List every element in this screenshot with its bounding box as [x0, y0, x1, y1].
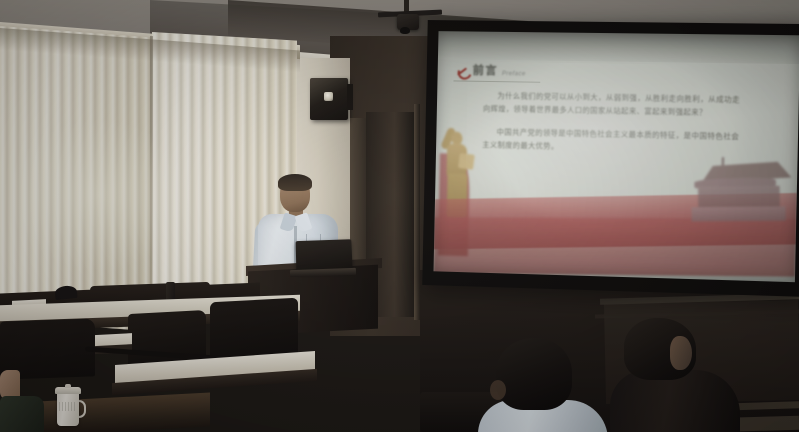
monument-graphic	[691, 161, 787, 225]
screen-top-shade	[438, 31, 799, 64]
speaker-bracket	[347, 84, 353, 110]
audience-face	[670, 336, 692, 370]
audience-head	[496, 338, 572, 410]
desk-object	[54, 285, 77, 300]
audience-ear	[490, 380, 506, 400]
audience-member-front-left	[478, 338, 598, 432]
slide-title-underline	[453, 80, 540, 82]
projector-lens-icon	[400, 27, 410, 34]
projection-screen-surface: 前言 Preface 为什么我们的党可以从小到大，从弱到强，从胜利走向胜利，从成…	[434, 31, 799, 282]
slide-paragraph: 为什么我们的党可以从小到大，从弱到强，从胜利走向胜利，从成功走向辉煌，领导着世界…	[483, 90, 740, 120]
party-emblem-icon	[456, 64, 469, 77]
slide-title-row: 前言 Preface	[456, 64, 526, 78]
slide-body: 为什么我们的党可以从小到大，从弱到强，从胜利走向胜利，从成功走向辉煌，领导着世界…	[482, 90, 740, 168]
slide-title-english: Preface	[502, 71, 526, 78]
curtain-daylight-glow	[8, 120, 188, 270]
foreground-object	[0, 396, 44, 432]
speaker-cone-icon	[324, 92, 333, 101]
slide-paragraph: 中国共产党的领导是中国特色社会主义最本质的特征，是中国特色社会主义制度的最大优势…	[482, 126, 739, 157]
presenter-hair	[278, 174, 312, 191]
audience-member-front-right	[610, 318, 735, 432]
conference-room-photo: 前言 Preface 为什么我们的党可以从小到大，从弱到强，从胜利走向胜利，从成…	[0, 0, 799, 432]
slide-title: 前言	[473, 66, 498, 77]
projection-screen: 前言 Preface 为什么我们的党可以从小到大，从弱到强，从胜利走向胜利，从成…	[422, 20, 799, 297]
lidded-tea-mug	[55, 386, 83, 426]
slide-red-ribbon-secondary	[434, 217, 797, 276]
